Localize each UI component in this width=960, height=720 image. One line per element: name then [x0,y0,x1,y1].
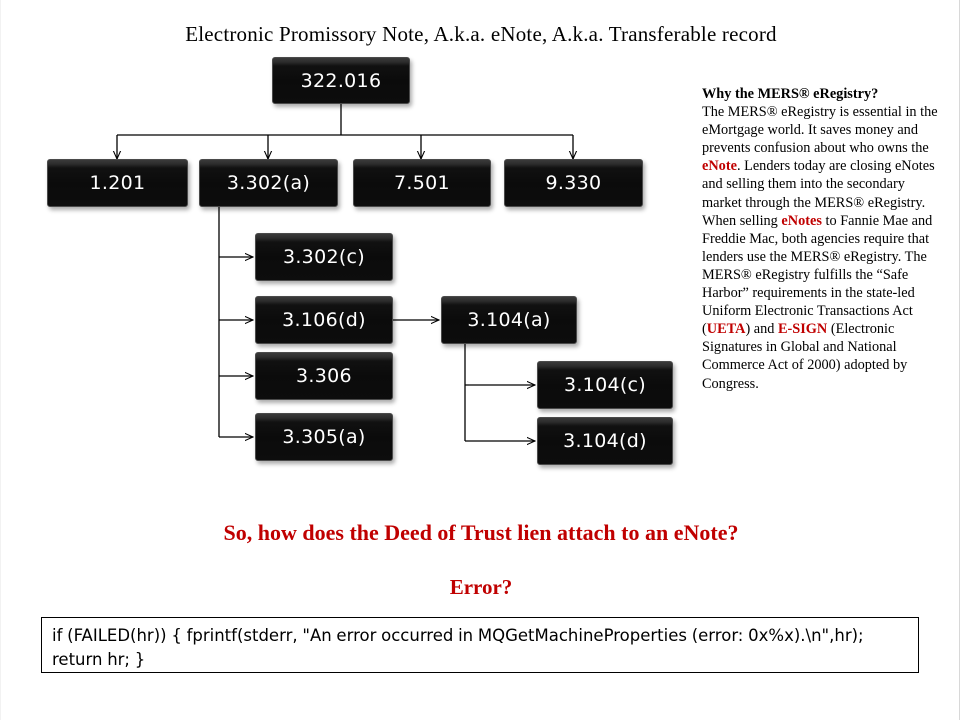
node-label: 3.106(d) [282,309,366,331]
code-line-1: if (FAILED(hr)) { fprintf(stderr, "An er… [52,626,743,645]
node-3-106-d[interactable]: 3.106(d) [255,296,393,344]
sidebar-body-1: The MERS® eRegistry is essential in the … [702,104,938,156]
node-label: 3.305(a) [282,426,365,448]
node-label: 1.201 [90,172,146,194]
node-3-104-d[interactable]: 3.104(d) [537,417,673,465]
sidebar-body-4: ) and [745,321,778,337]
sidebar-body-3: to Fannie Mae and Freddie Mac, both agen… [702,213,932,338]
node-7-501[interactable]: 7.501 [353,159,491,207]
node-3-104-c[interactable]: 3.104(c) [537,361,673,409]
slide-canvas: Electronic Promissory Note, A.k.a. eNote… [0,0,960,720]
sidebar-highlight-enotes: eNotes [781,213,822,229]
node-9-330[interactable]: 9.330 [504,159,643,207]
node-label: 9.330 [546,172,602,194]
mers-eregistry-note: Why the MERS® eRegistry? The MERS® eRegi… [702,85,945,393]
node-3-302-c[interactable]: 3.302(c) [255,233,393,281]
node-label: 3.104(a) [467,309,550,331]
node-322-016[interactable]: 322.016 [272,57,410,104]
node-label: 3.104(d) [563,430,647,452]
node-label: 322.016 [301,70,382,92]
page-title: Electronic Promissory Note, A.k.a. eNote… [1,22,960,47]
node-label: 3.306 [296,365,352,387]
node-label: 3.302(c) [283,246,365,268]
sidebar-heading: Why the MERS® eRegistry? [702,86,878,102]
node-label: 3.104(c) [564,374,646,396]
code-snippet-box: if (FAILED(hr)) { fprintf(stderr, "An er… [41,617,919,673]
node-label: 3.302(a) [227,172,310,194]
sidebar-highlight-enote: eNote [702,158,737,174]
question-deed-of-trust: So, how does the Deed of Trust lien atta… [1,520,960,546]
node-3-302-a[interactable]: 3.302(a) [199,159,338,207]
node-3-306[interactable]: 3.306 [255,352,393,400]
node-1-201[interactable]: 1.201 [47,159,188,207]
node-3-305-a[interactable]: 3.305(a) [255,413,393,461]
sidebar-highlight-esign: E-SIGN [778,321,827,337]
sidebar-highlight-ueta: UETA [707,321,746,337]
question-error: Error? [1,575,960,600]
node-3-104-a[interactable]: 3.104(a) [441,296,577,344]
node-label: 7.501 [394,172,450,194]
